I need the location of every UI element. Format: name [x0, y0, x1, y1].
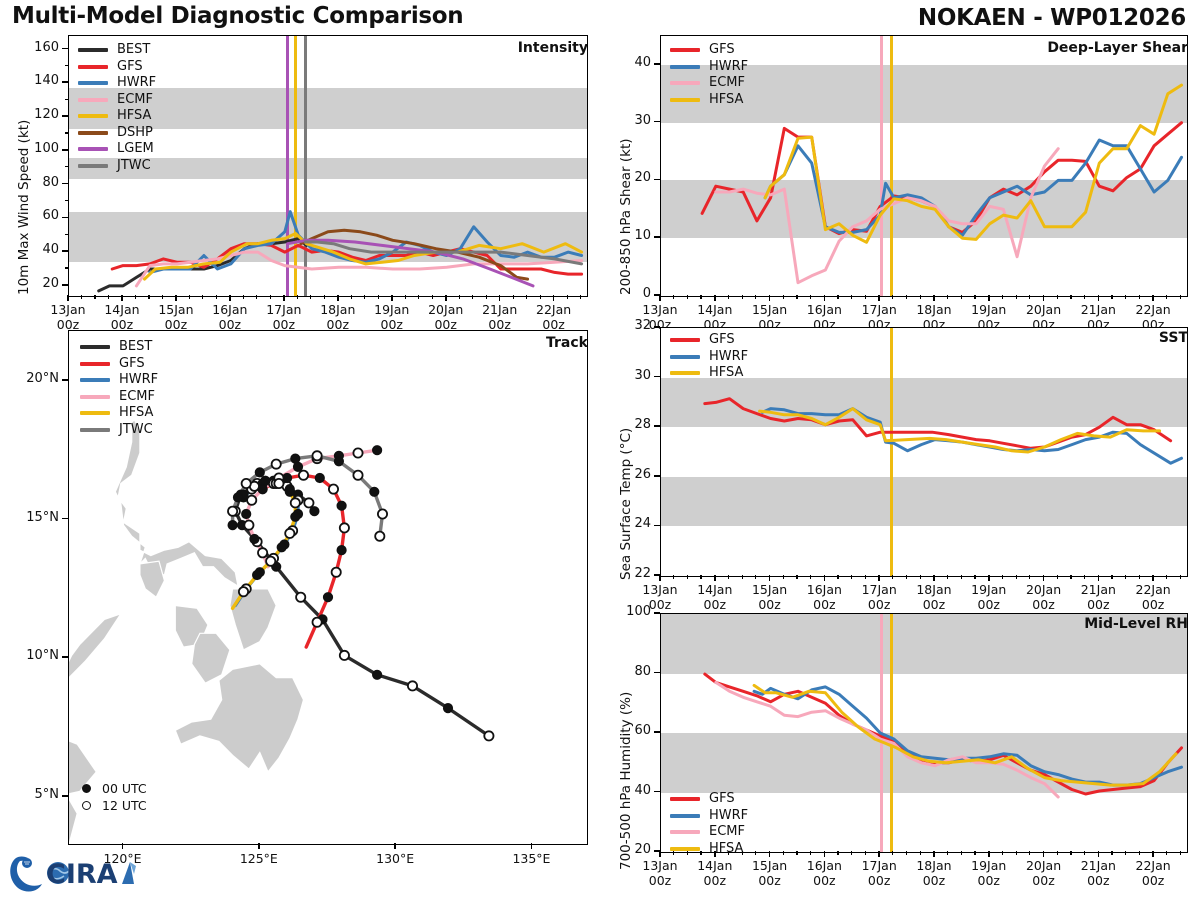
legend-swatch-hwrf — [670, 814, 700, 818]
x-minor-tick — [459, 295, 460, 299]
legend-swatch-ecmf — [80, 395, 110, 399]
x-minor-tick — [310, 295, 311, 299]
x-minor-tick — [769, 851, 770, 855]
y-tick-mark — [654, 425, 660, 427]
x-minor-tick — [1125, 295, 1126, 299]
x-minor-tick — [1180, 851, 1181, 855]
x-minor-tick — [189, 295, 190, 299]
legend-swatch-hfsa — [670, 98, 700, 102]
x-minor-tick — [567, 295, 568, 299]
legend-item-gfs[interactable]: GFS — [670, 332, 748, 349]
y-tick-mark — [654, 791, 660, 793]
x-minor-tick — [947, 575, 948, 579]
x-minor-tick — [892, 851, 893, 855]
y-tick-label: 40 — [605, 783, 651, 798]
legend-swatch-best — [78, 48, 108, 52]
track-point-12utc — [408, 681, 417, 690]
legend-item-gfs[interactable]: GFS — [78, 59, 156, 76]
x-minor-tick — [81, 295, 82, 299]
y-tick-label: 28 — [605, 417, 651, 432]
x-minor-tick — [961, 575, 962, 579]
track-point-00utc — [370, 487, 379, 496]
y-tick-mark — [654, 731, 660, 733]
legend-swatch-ecmf — [670, 81, 700, 85]
shear-ylabel: 200-850 hPa Shear (kt) — [618, 138, 634, 295]
y-tick-mark — [62, 284, 68, 286]
y-tick-label: 30 — [605, 113, 651, 128]
y-tick-label: 60 — [13, 208, 59, 223]
y-minor-tick — [65, 200, 69, 201]
legend-item-gfs[interactable]: GFS — [670, 42, 748, 59]
legend-label-best: BEST — [117, 42, 150, 59]
x-minor-tick — [988, 851, 989, 855]
marker-legend-item: 12 UTC — [78, 797, 147, 814]
x-minor-tick — [714, 575, 715, 579]
track-point-00utc — [373, 670, 382, 679]
legend-swatch-dshp — [78, 131, 108, 135]
x-minor-tick — [810, 851, 811, 855]
x-minor-tick — [783, 575, 784, 579]
coastline-polygon — [68, 614, 121, 697]
x-minor-tick — [742, 851, 743, 855]
track-point-00utc — [261, 476, 270, 485]
track-point-12utc — [272, 460, 281, 469]
y-tick-label: 22 — [605, 566, 651, 581]
x-minor-tick — [755, 851, 756, 855]
y-tick-mark — [654, 672, 660, 674]
diagnostic-dashboard: Multi-Model Diagnostic Comparison NOKAEN… — [0, 0, 1200, 900]
lat-tick-label: 5°N — [7, 787, 59, 802]
legend-item-hfsa[interactable]: HFSA — [80, 405, 158, 422]
x-minor-tick — [974, 295, 975, 299]
x-minor-tick — [324, 295, 325, 299]
track-point-12utc — [340, 523, 349, 532]
track-point-12utc — [313, 618, 322, 627]
x-minor-tick — [1166, 575, 1167, 579]
y-tick-label: 32 — [605, 318, 651, 333]
x-minor-tick — [1016, 851, 1017, 855]
legend-item-hwrf[interactable]: HWRF — [78, 75, 156, 92]
x-minor-tick — [1153, 851, 1154, 855]
x-tick-day: 22Jan — [1118, 302, 1188, 317]
legend-item-ecmf[interactable]: ECMF — [78, 92, 156, 109]
x-minor-tick — [1002, 851, 1003, 855]
x-minor-tick — [837, 295, 838, 299]
x-minor-tick — [1029, 295, 1030, 299]
track-point-00utc — [337, 546, 346, 555]
x-minor-tick — [769, 295, 770, 299]
legend-item-hfsa[interactable]: HFSA — [670, 841, 748, 858]
x-minor-tick — [243, 295, 244, 299]
x-minor-tick — [879, 851, 880, 855]
track-point-12utc — [244, 521, 253, 530]
legend-item-ecmf[interactable]: ECMF — [670, 75, 748, 92]
y-tick-label: 120 — [13, 107, 59, 122]
legend-label-hwrf: HWRF — [119, 372, 158, 389]
x-minor-tick — [920, 295, 921, 299]
lon-tick-label: 135°E — [491, 851, 571, 866]
y-minor-tick — [65, 234, 69, 235]
track-point-00utc — [443, 704, 452, 713]
lat-tick-label: 10°N — [7, 648, 59, 663]
x-minor-tick — [513, 295, 514, 299]
legend-label-ecmf: ECMF — [117, 92, 153, 109]
svg-text:CIRA: CIRA — [46, 859, 118, 890]
legend-swatch-gfs — [670, 338, 700, 342]
x-minor-tick — [1057, 851, 1058, 855]
y-tick-mark — [654, 376, 660, 378]
legend-item-jtwc[interactable]: JTWC — [80, 422, 158, 439]
x-minor-tick — [1098, 295, 1099, 299]
x-minor-tick — [364, 295, 365, 299]
noaa-cira-logo: CIRA — [6, 852, 156, 896]
x-minor-tick — [865, 575, 866, 579]
x-minor-tick — [1180, 295, 1181, 299]
panel-shear: 200-850 hPa Shear (kt) Deep-Layer Shear … — [600, 30, 1200, 330]
legend-swatch-lgem — [78, 147, 108, 151]
legend-item-jtwc[interactable]: JTWC — [78, 158, 156, 175]
marker-dot-open — [82, 801, 91, 810]
y-tick-label: 140 — [13, 73, 59, 88]
y-tick-mark — [654, 525, 660, 527]
panel-intensity: 10m Max Wind Speed (kt) Intensity BESTGF… — [0, 30, 600, 330]
lat-tick-mark — [62, 518, 68, 520]
x-minor-tick — [851, 851, 852, 855]
legend-swatch-hfsa — [80, 411, 110, 415]
panel-rh: 700-500 hPa Humidity (%) Mid-Level RH GF… — [600, 608, 1200, 900]
x-minor-tick — [526, 295, 527, 299]
x-minor-tick — [1070, 295, 1071, 299]
legend-item-hwrf[interactable]: HWRF — [670, 808, 748, 825]
x-minor-tick — [673, 851, 674, 855]
x-minor-tick — [1153, 575, 1154, 579]
y-tick-mark — [654, 612, 660, 614]
legend-label-gfs: GFS — [709, 791, 735, 808]
marker-legend-item: 00 UTC — [78, 780, 147, 797]
x-minor-tick — [1139, 295, 1140, 299]
x-minor-tick — [714, 851, 715, 855]
x-minor-tick — [229, 295, 230, 299]
lat-tick-mark — [62, 795, 68, 797]
x-minor-tick — [783, 851, 784, 855]
x-minor-tick — [769, 575, 770, 579]
x-minor-tick — [1002, 575, 1003, 579]
y-tick-mark — [62, 48, 68, 50]
x-minor-tick — [714, 295, 715, 299]
y-tick-label: 0 — [605, 286, 651, 301]
y-tick-mark — [654, 236, 660, 238]
coastline-polygon — [140, 561, 165, 597]
x-minor-tick — [673, 575, 674, 579]
x-minor-tick — [1002, 295, 1003, 299]
legend-swatch-jtwc — [78, 164, 108, 168]
y-tick-label: 40 — [13, 242, 59, 257]
x-minor-tick — [687, 295, 688, 299]
legend-label-hwrf: HWRF — [117, 75, 156, 92]
x-minor-tick — [1043, 575, 1044, 579]
legend-swatch-gfs — [670, 48, 700, 52]
x-minor-tick — [920, 575, 921, 579]
page-title-left: Multi-Model Diagnostic Comparison — [12, 3, 463, 29]
lon-tick-label: 125°E — [219, 851, 299, 866]
track-point-00utc — [291, 512, 300, 521]
x-minor-tick — [1153, 295, 1154, 299]
legend-swatch-gfs — [670, 797, 700, 801]
x-minor-tick — [947, 851, 948, 855]
x-minor-tick — [700, 851, 701, 855]
x-minor-tick — [472, 295, 473, 299]
x-minor-tick — [499, 295, 500, 299]
track-point-00utc — [255, 468, 264, 477]
legend-label-dshp: DSHP — [117, 125, 153, 142]
track-point-12utc — [353, 448, 362, 457]
x-minor-tick — [108, 295, 109, 299]
legend-label-hfsa: HFSA — [709, 92, 743, 109]
x-minor-tick — [961, 295, 962, 299]
lat-tick-mark — [62, 379, 68, 381]
legend-swatch-hwrf — [670, 355, 700, 359]
x-minor-tick — [700, 295, 701, 299]
track-point-00utc — [250, 534, 259, 543]
y-tick-mark — [654, 121, 660, 123]
x-minor-tick — [94, 295, 95, 299]
track-point-12utc — [375, 532, 384, 541]
legend-item-gfs[interactable]: GFS — [80, 356, 158, 373]
x-minor-tick — [216, 295, 217, 299]
x-minor-tick — [1057, 575, 1058, 579]
x-minor-tick — [1180, 575, 1181, 579]
x-minor-tick — [933, 295, 934, 299]
x-minor-tick — [135, 295, 136, 299]
x-minor-tick — [1098, 575, 1099, 579]
coastline-polygon — [230, 589, 276, 650]
y-minor-tick — [65, 99, 69, 100]
legend-swatch-ecmf — [78, 98, 108, 102]
track-point-12utc — [340, 651, 349, 660]
x-minor-tick — [540, 295, 541, 299]
lat-tick-label: 15°N — [7, 510, 59, 525]
x-minor-tick — [1098, 851, 1099, 855]
x-minor-tick — [824, 295, 825, 299]
track-marker-legend: 00 UTC12 UTC — [78, 780, 147, 814]
track-point-00utc — [253, 570, 262, 579]
marker-legend-label: 00 UTC — [102, 781, 147, 796]
x-tick-day: 22Jan — [519, 302, 589, 317]
y-tick-label: 24 — [605, 516, 651, 531]
legend-item-hwrf[interactable]: HWRF — [670, 59, 748, 76]
track-point-00utc — [291, 454, 300, 463]
legend-swatch-hfsa — [78, 114, 108, 118]
x-minor-tick — [1043, 851, 1044, 855]
x-minor-tick — [906, 851, 907, 855]
lon-tick-label: 130°E — [355, 851, 435, 866]
track-point-00utc — [242, 509, 251, 518]
x-minor-tick — [906, 575, 907, 579]
legend-label-gfs: GFS — [117, 59, 143, 76]
coastline-polygon — [115, 420, 238, 586]
x-tick-day: 22Jan — [1118, 858, 1188, 873]
x-minor-tick — [700, 575, 701, 579]
lon-tick-mark — [394, 843, 396, 849]
legend-item-hfsa[interactable]: HFSA — [670, 92, 748, 109]
y-minor-tick — [65, 132, 69, 133]
x-minor-tick — [851, 575, 852, 579]
y-tick-label: 30 — [605, 368, 651, 383]
y-tick-label: 100 — [605, 604, 651, 619]
x-minor-tick — [378, 295, 379, 299]
y-tick-mark — [62, 149, 68, 151]
legend-label-hfsa: HFSA — [709, 365, 743, 382]
x-minor-tick — [432, 295, 433, 299]
x-minor-tick — [297, 295, 298, 299]
track-point-12utc — [285, 529, 294, 538]
legend-item-best[interactable]: BEST — [78, 42, 156, 59]
legend-label-hwrf: HWRF — [709, 59, 748, 76]
legend-label-jtwc: JTWC — [119, 422, 153, 439]
legend-label-lgem: LGEM — [117, 141, 154, 158]
track-point-12utc — [329, 485, 338, 494]
x-minor-tick — [687, 575, 688, 579]
lon-tick-mark — [122, 843, 124, 849]
x-minor-tick — [202, 295, 203, 299]
x-minor-tick — [1166, 851, 1167, 855]
x-minor-tick — [283, 295, 284, 299]
y-tick-label: 160 — [13, 40, 59, 55]
x-minor-tick — [742, 295, 743, 299]
legend-swatch-gfs — [80, 362, 110, 366]
x-minor-tick — [796, 575, 797, 579]
lon-tick-mark — [258, 843, 260, 849]
y-tick-label: 80 — [13, 175, 59, 190]
panel-track: Track BESTGFSHWRFECMFHFSAJTWC 00 UTC12 U… — [0, 325, 600, 885]
legend-item-gfs[interactable]: GFS — [670, 791, 748, 808]
x-minor-tick — [486, 295, 487, 299]
legend-item-ecmf[interactable]: ECMF — [670, 824, 748, 841]
x-minor-tick — [1029, 851, 1030, 855]
legend-swatch-hwrf — [78, 81, 108, 85]
x-minor-tick — [892, 295, 893, 299]
x-minor-tick — [1111, 851, 1112, 855]
lat-tick-mark — [62, 656, 68, 658]
x-minor-tick — [1084, 575, 1085, 579]
x-minor-tick — [1125, 851, 1126, 855]
y-tick-mark — [62, 250, 68, 252]
x-minor-tick — [1057, 295, 1058, 299]
track-point-12utc — [378, 509, 387, 518]
track-point-12utc — [299, 471, 308, 480]
x-minor-tick — [988, 575, 989, 579]
x-minor-tick — [947, 295, 948, 299]
legend-item-dshp[interactable]: DSHP — [78, 125, 156, 142]
x-minor-tick — [933, 575, 934, 579]
legend-swatch-ecmf — [670, 830, 700, 834]
x-minor-tick — [728, 575, 729, 579]
x-minor-tick — [1111, 575, 1112, 579]
x-minor-tick — [824, 851, 825, 855]
x-minor-tick — [1139, 851, 1140, 855]
legend-label-hfsa: HFSA — [119, 405, 153, 422]
x-minor-tick — [879, 575, 880, 579]
y-tick-mark — [654, 475, 660, 477]
y-tick-mark — [62, 115, 68, 117]
x-minor-tick — [824, 575, 825, 579]
x-minor-tick — [796, 851, 797, 855]
x-minor-tick — [728, 851, 729, 855]
y-tick-label: 40 — [605, 55, 651, 70]
x-minor-tick — [933, 851, 934, 855]
series-hwrf — [762, 409, 1181, 464]
y-tick-label: 20 — [605, 842, 651, 857]
marker-dot-filled — [82, 784, 91, 793]
legend-swatch-hfsa — [670, 847, 700, 851]
x-minor-tick — [121, 295, 122, 299]
legend-item-best[interactable]: BEST — [80, 339, 158, 356]
track-point-00utc — [310, 507, 319, 516]
panel-sst: Sea Surface Temp (°C) SST GFSHWRFHFSA 22… — [600, 322, 1200, 612]
x-minor-tick — [728, 295, 729, 299]
x-minor-tick — [351, 295, 352, 299]
legend-label-ecmf: ECMF — [709, 824, 745, 841]
coastline-polygon — [175, 664, 303, 772]
y-tick-label: 80 — [605, 664, 651, 679]
x-minor-tick — [405, 295, 406, 299]
legend-item-hfsa[interactable]: HFSA — [670, 365, 748, 382]
legend-swatch-jtwc — [80, 428, 110, 432]
x-minor-tick — [1029, 575, 1030, 579]
x-minor-tick — [270, 295, 271, 299]
track-point-00utc — [334, 457, 343, 466]
x-minor-tick — [337, 295, 338, 299]
track-point-12utc — [274, 479, 283, 488]
track-point-00utc — [315, 473, 324, 482]
rh-legend: GFSHWRFECMFHFSA — [670, 791, 748, 857]
page-title-right: NOKAEN - WP012026 — [918, 5, 1186, 31]
x-minor-tick — [445, 295, 446, 299]
x-minor-tick — [659, 851, 660, 855]
track-point-12utc — [291, 498, 300, 507]
legend-item-hwrf[interactable]: HWRF — [670, 349, 748, 366]
x-minor-tick — [175, 295, 176, 299]
x-minor-tick — [1084, 295, 1085, 299]
x-minor-tick — [892, 575, 893, 579]
x-minor-tick — [755, 295, 756, 299]
track-point-12utc — [266, 557, 275, 566]
legend-label-jtwc: JTWC — [117, 158, 151, 175]
x-minor-tick — [974, 575, 975, 579]
track-point-00utc — [285, 487, 294, 496]
x-minor-tick — [659, 575, 660, 579]
track-point-00utc — [228, 521, 237, 530]
lat-tick-label: 20°N — [7, 371, 59, 386]
lon-tick-mark — [531, 843, 533, 849]
legend-item-hfsa[interactable]: HFSA — [78, 108, 156, 125]
x-minor-tick — [755, 575, 756, 579]
series-hwrf — [765, 140, 1181, 235]
intensity-legend: BESTGFSHWRFECMFHFSADSHPLGEMJTWC — [78, 42, 156, 174]
track-point-00utc — [337, 501, 346, 510]
y-minor-tick — [65, 166, 69, 167]
x-minor-tick — [687, 851, 688, 855]
x-minor-tick — [256, 295, 257, 299]
legend-item-lgem[interactable]: LGEM — [78, 141, 156, 158]
legend-item-hwrf[interactable]: HWRF — [80, 372, 158, 389]
track-point-12utc — [247, 496, 256, 505]
legend-item-ecmf[interactable]: ECMF — [80, 389, 158, 406]
legend-label-gfs: GFS — [709, 332, 735, 349]
track-point-12utc — [239, 587, 248, 596]
x-minor-tick — [974, 851, 975, 855]
x-minor-tick — [1125, 575, 1126, 579]
